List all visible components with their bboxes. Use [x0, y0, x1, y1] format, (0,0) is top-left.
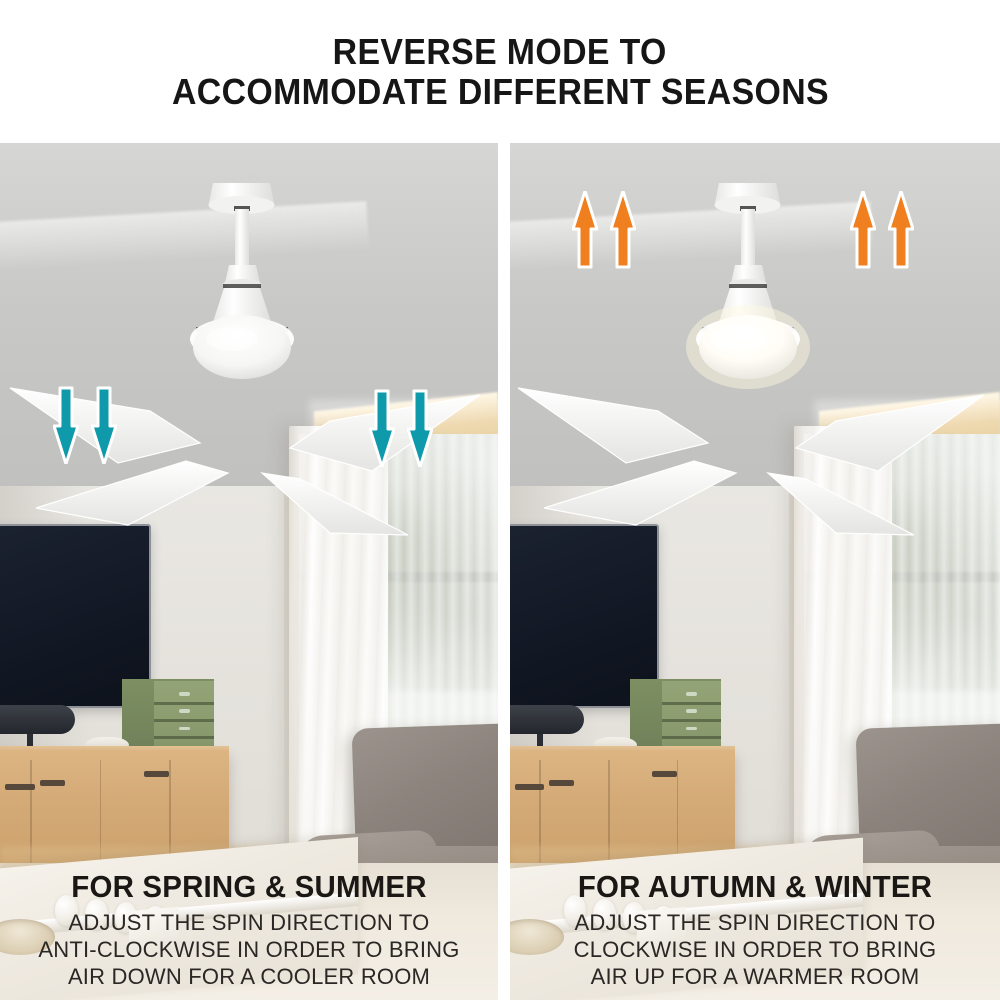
caption-heading: FOR AUTUMN & WINTER	[532, 869, 979, 905]
green-drawer-line	[154, 702, 214, 705]
green-drawer-line	[662, 719, 721, 722]
headline-block: REVERSE MODE TO ACCOMMODATE DIFFERENT SE…	[0, 0, 1000, 143]
sideboard-handle	[144, 771, 169, 777]
arrow-down-icon	[407, 389, 433, 467]
caption-line: AIR UP FOR A WARMER ROOM	[520, 963, 990, 990]
green-drawer-knob	[179, 692, 190, 696]
caption-body: ADJUST THE SPIN DIRECTION TO ANTI-CLOCKW…	[10, 909, 488, 990]
spring-summer-panel: FOR SPRING & SUMMER ADJUST THE SPIN DIRE…	[0, 143, 498, 1000]
caption-line: ADJUST THE SPIN DIRECTION TO	[10, 909, 488, 936]
green-drawer-line	[662, 702, 721, 705]
green-drawer-line	[154, 719, 214, 722]
caption-spring-summer: FOR SPRING & SUMMER ADJUST THE SPIN DIRE…	[0, 869, 498, 1000]
caption-autumn-winter: FOR AUTUMN & WINTER ADJUST THE SPIN DIRE…	[510, 869, 1000, 1000]
caption-line: ADJUST THE SPIN DIRECTION TO	[520, 909, 990, 936]
green-drawer-line	[154, 736, 214, 739]
headline-line-2: ACCOMMODATE DIFFERENT SEASONS	[171, 72, 828, 112]
caption-line: CLOCKWISE IN ORDER TO BRING	[520, 936, 990, 963]
arrow-down-icon	[369, 389, 395, 467]
headline-line-1: REVERSE MODE TO	[333, 32, 667, 72]
green-drawer-knob	[686, 692, 697, 696]
green-drawer-line	[662, 736, 721, 739]
sideboard-handle	[549, 780, 574, 786]
infographic-page: REVERSE MODE TO ACCOMMODATE DIFFERENT SE…	[0, 0, 1000, 1000]
green-drawer-knob	[179, 727, 190, 731]
soundbar	[510, 705, 584, 734]
green-drawer-knob	[179, 709, 190, 713]
sideboard-handle	[652, 771, 677, 777]
green-drawer-knob	[686, 709, 697, 713]
autumn-winter-panel: FOR AUTUMN & WINTER ADJUST THE SPIN DIRE…	[510, 143, 1000, 1000]
caption-line: ANTI-CLOCKWISE IN ORDER TO BRING	[10, 936, 488, 963]
arrow-up-icon	[850, 191, 876, 269]
arrow-down-icon	[91, 386, 117, 464]
green-drawer-knob	[686, 727, 697, 731]
arrow-up-icon	[572, 191, 598, 269]
caption-heading: FOR SPRING & SUMMER	[22, 869, 476, 905]
sideboard-handle	[515, 784, 544, 790]
caption-line: AIR DOWN FOR A COOLER ROOM	[10, 963, 488, 990]
sideboard-handle	[40, 780, 65, 786]
sideboard-handle	[5, 784, 35, 790]
soundbar	[0, 705, 75, 734]
caption-body: ADJUST THE SPIN DIRECTION TO CLOCKWISE I…	[520, 909, 990, 990]
arrow-up-icon	[610, 191, 636, 269]
arrow-down-icon	[53, 386, 79, 464]
arrow-up-icon	[888, 191, 914, 269]
